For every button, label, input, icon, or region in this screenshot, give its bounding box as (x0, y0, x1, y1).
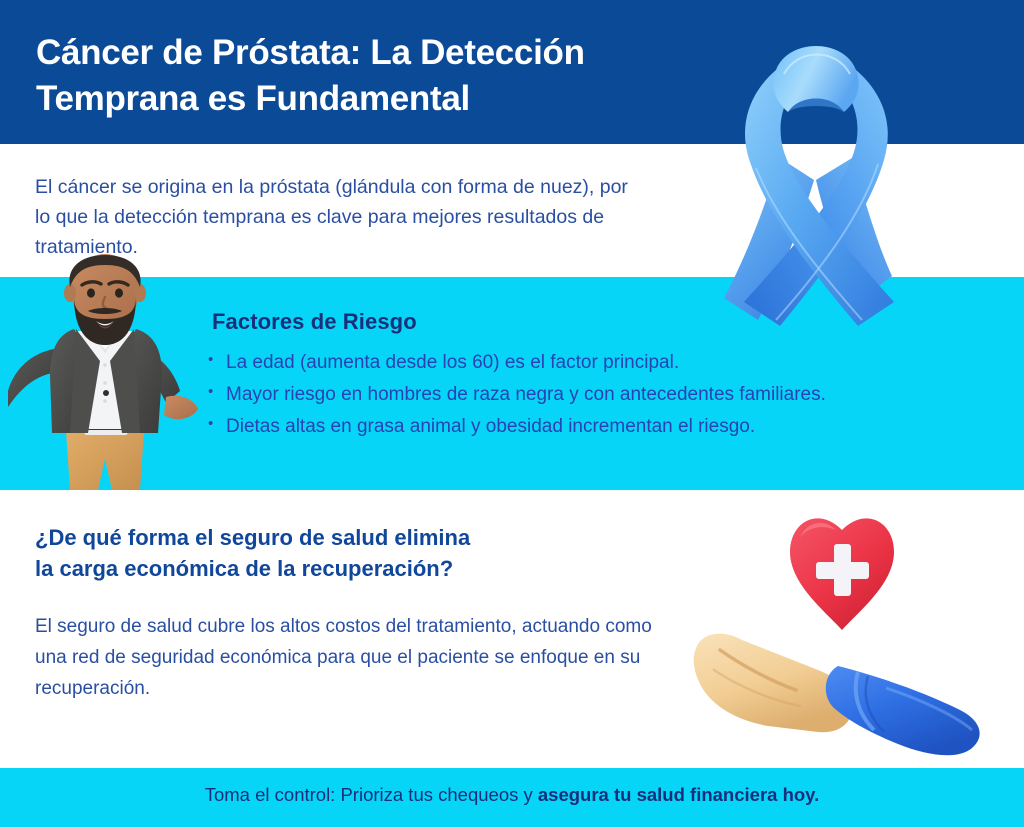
list-item: Dietas altas en grasa animal y obesidad … (208, 417, 998, 436)
page-title-line1-bold: Cáncer de Próstata: (36, 33, 361, 72)
list-item: La edad (aumenta desde los 60) es el fac… (208, 353, 998, 372)
footer-cta: Toma el control: Prioriza tus chequeos y… (0, 782, 1024, 808)
insurance-heading-line1: ¿De qué forma el seguro de salud elimina (35, 525, 470, 550)
list-item: Mayor riesgo en hombres de raza negra y … (208, 385, 998, 404)
risk-factors-list: La edad (aumenta desde los 60) es el fac… (208, 353, 998, 449)
hand-holding-heart-icon (672, 492, 1012, 764)
insurance-paragraph: El seguro de salud cubre los altos costo… (35, 612, 675, 704)
infographic-poster: Cáncer de Próstata: La Detección Tempran… (0, 0, 1024, 827)
insurance-question-heading: ¿De qué forma el seguro de salud elimina… (35, 522, 575, 584)
footer-cta-normal: Toma el control: Prioriza tus chequeos y (205, 784, 538, 805)
risk-factors-title: Factores de Riesgo (212, 309, 417, 335)
insurance-heading-line2: la carga económica de la recuperación? (35, 556, 453, 581)
page-title-line2: Temprana es Fundamental (36, 79, 470, 118)
intro-paragraph: El cáncer se origina en la próstata (glá… (35, 172, 635, 263)
footer-cta-bold: asegura tu salud financiera hoy. (538, 784, 819, 805)
man-illustration-icon (8, 253, 204, 490)
page-title: Cáncer de Próstata: La Detección Tempran… (36, 30, 726, 122)
page-title-line1-rest: La Detección (361, 33, 585, 72)
